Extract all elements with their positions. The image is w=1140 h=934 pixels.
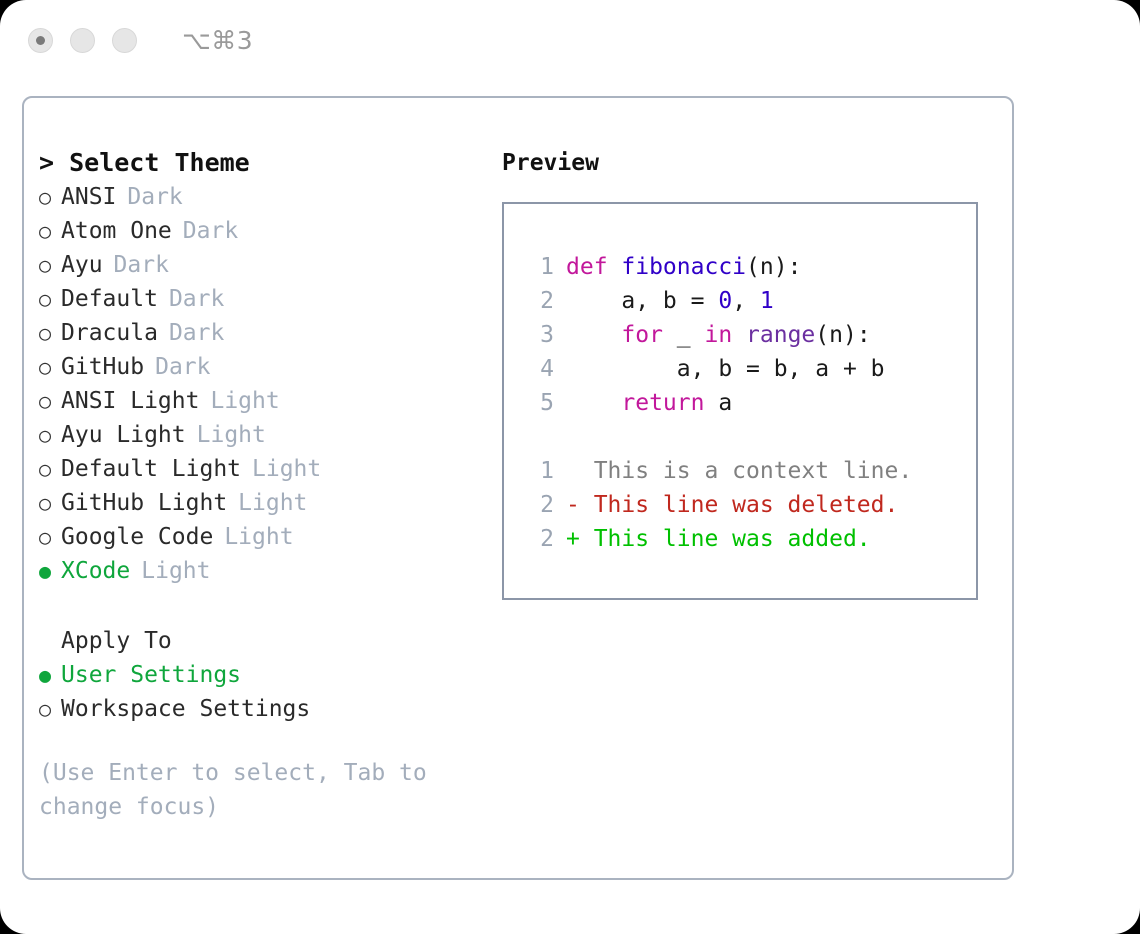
radio-unselected-icon: ○: [39, 692, 61, 726]
traffic-light-maximize-icon[interactable]: [112, 28, 137, 53]
token-plain: [566, 322, 621, 348]
window-controls: [28, 28, 137, 53]
token-plain: [566, 390, 621, 416]
theme-option-label: Ayu Light: [61, 418, 186, 452]
theme-option-default-light[interactable]: ○Default LightLight: [39, 452, 489, 486]
theme-option-google-code[interactable]: ○Google CodeLight: [39, 520, 489, 554]
code-line: 3 for _ in range(n):: [522, 318, 976, 352]
token-bi: range: [746, 322, 815, 348]
theme-option-ayu-light[interactable]: ○Ayu LightLight: [39, 418, 489, 452]
token-kw: for: [621, 322, 663, 348]
apply-to-option-workspace-settings[interactable]: ○Workspace Settings: [39, 692, 489, 726]
line-number: 2: [522, 522, 554, 556]
radio-selected-icon: ●: [39, 658, 61, 692]
theme-variant-tag: Dark: [183, 214, 238, 248]
theme-variant-tag: Dark: [169, 282, 224, 316]
token-kw: return: [621, 390, 704, 416]
theme-option-label: Atom One: [61, 214, 172, 248]
radio-unselected-icon: ○: [39, 384, 61, 418]
radio-unselected-icon: ○: [39, 248, 61, 282]
theme-option-label: Ayu: [61, 248, 103, 282]
app-window: ⌥⌘3 > Select Theme ○ANSIDark○Atom OneDar…: [0, 0, 1140, 934]
diff-content: - This line was deleted.: [566, 488, 898, 522]
diff-content: + This line was added.: [566, 522, 871, 556]
traffic-light-minimize-icon[interactable]: [70, 28, 95, 53]
preview-box: 1def fibonacci(n):2 a, b = 0, 13 for _ i…: [502, 202, 978, 600]
panel-columns: > Select Theme ○ANSIDark○Atom OneDark○Ay…: [24, 98, 1012, 878]
theme-variant-tag: Dark: [127, 180, 182, 214]
theme-option-label: GitHub Light: [61, 486, 227, 520]
token-plain: a, b = b, a + b: [566, 356, 885, 382]
code-line: 4 a, b = b, a + b: [522, 352, 976, 386]
theme-variant-tag: Dark: [169, 316, 224, 350]
preview-column: Preview 1def fibonacci(n):2 a, b = 0, 13…: [502, 146, 1002, 600]
theme-variant-tag: Dark: [114, 248, 169, 282]
radio-selected-icon: ●: [39, 554, 61, 588]
code-content: for _ in range(n):: [566, 318, 871, 352]
theme-variant-tag: Light: [224, 520, 293, 554]
theme-option-label: XCode: [61, 554, 130, 588]
theme-selector-column: > Select Theme ○ANSIDark○Atom OneDark○Ay…: [39, 146, 489, 824]
diff-content: This is a context line.: [566, 454, 912, 488]
theme-option-label: Default Light: [61, 452, 241, 486]
code-preview: 1def fibonacci(n):2 a, b = 0, 13 for _ i…: [522, 250, 976, 420]
line-number: 2: [522, 488, 554, 522]
radio-unselected-icon: ○: [39, 316, 61, 350]
theme-option-ayu[interactable]: ○AyuDark: [39, 248, 489, 282]
line-number: 1: [522, 250, 554, 284]
radio-unselected-icon: ○: [39, 520, 61, 554]
apply-to-header: Apply To: [39, 624, 489, 658]
traffic-light-close-icon[interactable]: [28, 28, 53, 53]
theme-variant-tag: Light: [238, 486, 307, 520]
line-number: 1: [522, 454, 554, 488]
theme-variant-tag: Light: [141, 554, 210, 588]
main-panel: > Select Theme ○ANSIDark○Atom OneDark○Ay…: [22, 96, 1014, 880]
theme-option-label: ANSI: [61, 180, 116, 214]
diff-line: 2+ This line was added.: [522, 522, 976, 556]
token-ctx: This is a context line.: [566, 458, 912, 484]
radio-unselected-icon: ○: [39, 418, 61, 452]
radio-unselected-icon: ○: [39, 486, 61, 520]
theme-list: ○ANSIDark○Atom OneDark○AyuDark○DefaultDa…: [39, 180, 489, 588]
theme-option-label: Google Code: [61, 520, 213, 554]
theme-variant-tag: Light: [252, 452, 321, 486]
radio-unselected-icon: ○: [39, 282, 61, 316]
radio-unselected-icon: ○: [39, 452, 61, 486]
token-kw: in: [704, 322, 732, 348]
apply-to-list: ●User Settings○Workspace Settings: [39, 658, 489, 726]
theme-variant-tag: Dark: [155, 350, 210, 384]
spacer: [39, 588, 489, 624]
theme-variant-tag: Light: [197, 418, 266, 452]
apply-to-option-label: User Settings: [61, 658, 241, 692]
token-num: 1: [760, 288, 774, 314]
token-plain: a: [704, 390, 732, 416]
theme-option-default[interactable]: ○DefaultDark: [39, 282, 489, 316]
line-number: 4: [522, 352, 554, 386]
theme-option-label: Dracula: [61, 316, 158, 350]
radio-unselected-icon: ○: [39, 214, 61, 248]
theme-option-ansi-light[interactable]: ○ANSI LightLight: [39, 384, 489, 418]
token-plain: n: [760, 254, 774, 280]
radio-unselected-icon: ○: [39, 180, 61, 214]
token-plain: [732, 322, 746, 348]
theme-option-github[interactable]: ○GitHubDark: [39, 350, 489, 384]
token-del: - This line was deleted.: [566, 492, 898, 518]
token-fn: fibonacci: [621, 254, 746, 280]
theme-option-dracula[interactable]: ○DraculaDark: [39, 316, 489, 350]
radio-unselected-icon: ○: [39, 350, 61, 384]
token-kw: def: [566, 254, 621, 280]
theme-option-label: GitHub: [61, 350, 144, 384]
keyboard-hint-text: (Use Enter to select, Tab to change focu…: [39, 756, 439, 824]
theme-option-label: ANSI Light: [61, 384, 199, 418]
code-line: 2 a, b = 0, 1: [522, 284, 976, 318]
code-line: 1def fibonacci(n):: [522, 250, 976, 284]
diff-preview: 1 This is a context line.2- This line wa…: [522, 454, 976, 556]
theme-option-atom-one[interactable]: ○Atom OneDark: [39, 214, 489, 248]
token-plain: ,: [732, 288, 760, 314]
token-num: 0: [718, 288, 732, 314]
token-plain: (: [746, 254, 760, 280]
apply-to-option-user-settings[interactable]: ●User Settings: [39, 658, 489, 692]
theme-variant-tag: Light: [210, 384, 279, 418]
token-plain: a, b =: [566, 288, 718, 314]
theme-option-ansi[interactable]: ○ANSIDark: [39, 180, 489, 214]
theme-option-label: Default: [61, 282, 158, 316]
preview-header: Preview: [502, 146, 1002, 180]
title-bar: ⌥⌘3: [0, 0, 1140, 80]
token-plain: _: [663, 322, 705, 348]
theme-option-github-light[interactable]: ○GitHub LightLight: [39, 486, 489, 520]
apply-to-option-label: Workspace Settings: [61, 692, 310, 726]
code-content: def fibonacci(n):: [566, 250, 801, 284]
token-add: + This line was added.: [566, 526, 871, 552]
token-plain: (n):: [815, 322, 870, 348]
token-plain: ):: [774, 254, 802, 280]
keyboard-shortcut-label: ⌥⌘3: [182, 26, 253, 55]
traffic-light-dot: [36, 36, 45, 45]
spacer: [522, 420, 976, 454]
spacer: [39, 726, 489, 756]
code-line: 5 return a: [522, 386, 976, 420]
diff-line: 2- This line was deleted.: [522, 488, 976, 522]
line-number: 5: [522, 386, 554, 420]
code-content: a, b = 0, 1: [566, 284, 774, 318]
select-theme-header: > Select Theme: [39, 146, 489, 180]
line-number: 2: [522, 284, 554, 318]
theme-option-xcode[interactable]: ●XCodeLight: [39, 554, 489, 588]
code-content: a, b = b, a + b: [566, 352, 885, 386]
code-content: return a: [566, 386, 732, 420]
diff-line: 1 This is a context line.: [522, 454, 976, 488]
line-number: 3: [522, 318, 554, 352]
